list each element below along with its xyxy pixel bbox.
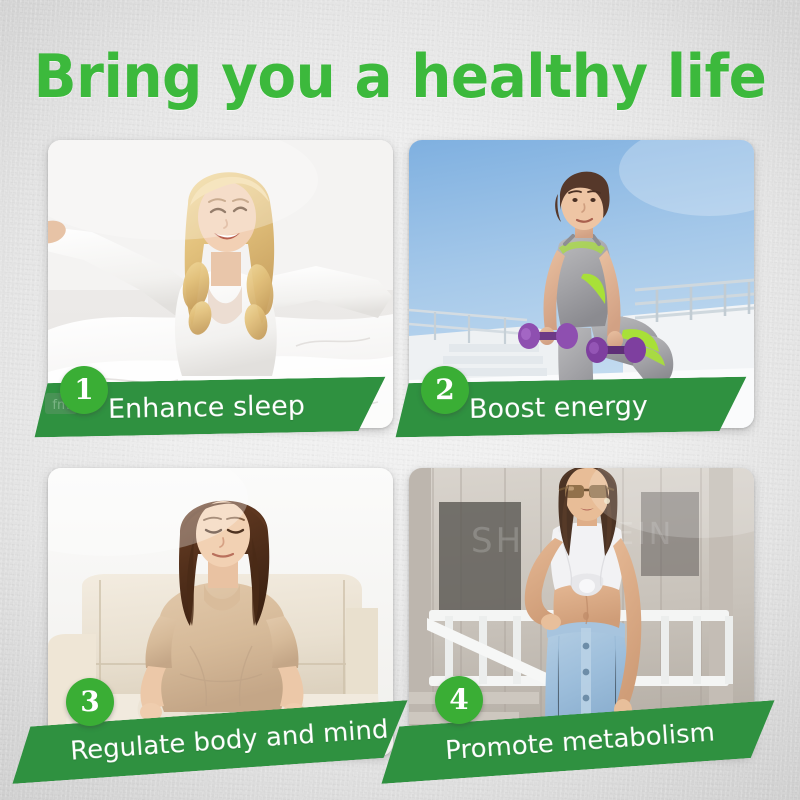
- benefit-label-2: Boost energy: [469, 392, 648, 422]
- benefit-card-boost-energy[interactable]: Boost energy 2: [409, 140, 754, 428]
- benefit-number-badge-1: 1: [60, 366, 108, 414]
- benefit-number-badge-3: 3: [66, 678, 114, 726]
- benefit-label-4: Promote metabolism: [444, 719, 715, 764]
- benefit-label-3: Regulate body and mind: [69, 717, 389, 765]
- benefit-card-enhance-sleep[interactable]: fm Enhance sleep 1: [48, 140, 393, 428]
- benefit-card-promote-metabolism[interactable]: SH EIN: [409, 468, 754, 756]
- benefit-card-regulate-body-and-mind[interactable]: Regulate body and mind 3: [48, 468, 393, 756]
- svg-text:SH: SH: [471, 521, 524, 561]
- page-title: Bring you a healthy life: [24, 44, 776, 110]
- benefit-label-1: Enhance sleep: [108, 392, 305, 423]
- benefit-number-badge-2: 2: [421, 366, 469, 414]
- benefits-grid: fm Enhance sleep 1: [48, 140, 754, 760]
- benefit-number-badge-4: 4: [435, 676, 483, 724]
